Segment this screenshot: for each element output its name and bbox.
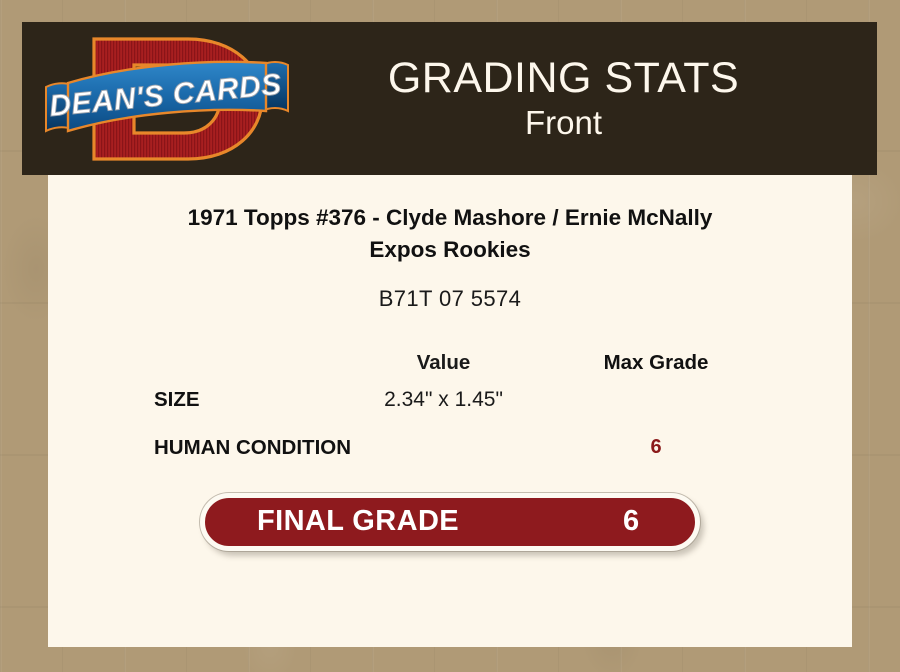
header-bar: DEAN'S CARDS GRADING STATS Front	[22, 22, 877, 175]
final-grade-label: FINAL GRADE	[257, 505, 459, 538]
page-title: GRADING STATS	[294, 56, 833, 102]
table-row: SIZE 2.34" x 1.45"	[64, 381, 852, 419]
header-titles: GRADING STATS Front	[294, 56, 877, 141]
table-row: HUMAN CONDITION 6	[64, 429, 852, 467]
final-grade-badge: FINAL GRADE 6	[200, 493, 700, 551]
stats-row-value-size: 2.34" x 1.45"	[326, 388, 561, 412]
stats-row-max-grade-human-condition: 6	[561, 436, 751, 459]
deans-cards-logo[interactable]: DEAN'S CARDS	[38, 25, 294, 173]
card-title-line-2: Expos Rookies	[88, 234, 812, 266]
page-subtitle: Front	[294, 106, 833, 141]
content-panel: 1971 Topps #376 - Clyde Mashore / Ernie …	[48, 175, 852, 647]
stats-header-value: Value	[326, 351, 561, 375]
stats-row-label-size: SIZE	[64, 388, 326, 412]
grading-stats-table: Value Max Grade SIZE 2.34" x 1.45" HUMAN…	[48, 345, 852, 467]
stats-header-row: Value Max Grade	[64, 345, 852, 381]
stats-row-spacer	[64, 419, 852, 429]
stats-header-max-grade: Max Grade	[561, 351, 751, 375]
final-grade-value: 6	[623, 505, 639, 538]
final-grade-section: FINAL GRADE 6	[48, 493, 852, 551]
card-serial-number: B71T 07 5574	[48, 286, 852, 312]
card-title-line-1: 1971 Topps #376 - Clyde Mashore / Ernie …	[88, 202, 812, 234]
card-title: 1971 Topps #376 - Clyde Mashore / Ernie …	[48, 202, 852, 266]
stats-row-label-human-condition: HUMAN CONDITION	[64, 436, 326, 460]
